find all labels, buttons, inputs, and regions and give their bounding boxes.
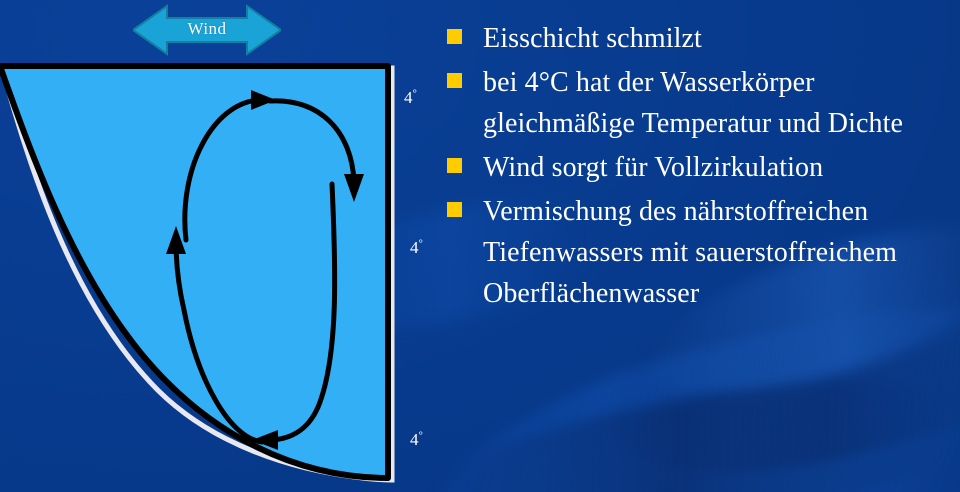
list-item: bei 4°C hat der Wasserkörper gleichmäßig… [447, 62, 953, 144]
lake-water-body [0, 66, 388, 478]
bullet-square-icon [447, 202, 462, 217]
temperature-value: 4 [404, 88, 413, 107]
slide-canvas: Wind 4° 4° 4° Eisschicht schmilzt bei [0, 0, 960, 492]
lake-cross-section-diagram [0, 52, 400, 488]
degree-symbol: ° [419, 237, 423, 249]
list-item-label: bei 4°C hat der Wasserkörper gleichmäßig… [483, 62, 953, 144]
list-item: Wind sorgt für Vollzirkulation [447, 147, 953, 188]
temperature-label-bottom: 4° [410, 430, 423, 450]
degree-symbol: ° [413, 87, 417, 99]
bullet-list: Eisschicht schmilzt bei 4°C hat der Wass… [447, 18, 953, 317]
list-item-label: Wind sorgt für Vollzirkulation [483, 147, 953, 188]
list-item: Vermischung des nährstoffreichen Tiefenw… [447, 191, 953, 314]
temperature-label-middle: 4° [410, 238, 423, 258]
wind-label: Wind [133, 19, 281, 39]
temperature-value: 4 [410, 430, 419, 449]
list-item-label: Vermischung des nährstoffreichen Tiefenw… [483, 191, 953, 314]
list-item: Eisschicht schmilzt [447, 18, 953, 59]
degree-symbol: ° [419, 429, 423, 441]
bullet-square-icon [447, 158, 462, 173]
bullet-square-icon [447, 29, 462, 44]
temperature-value: 4 [410, 238, 419, 257]
temperature-label-surface: 4° [404, 88, 417, 108]
list-item-label: Eisschicht schmilzt [483, 18, 953, 59]
bullet-square-icon [447, 73, 462, 88]
